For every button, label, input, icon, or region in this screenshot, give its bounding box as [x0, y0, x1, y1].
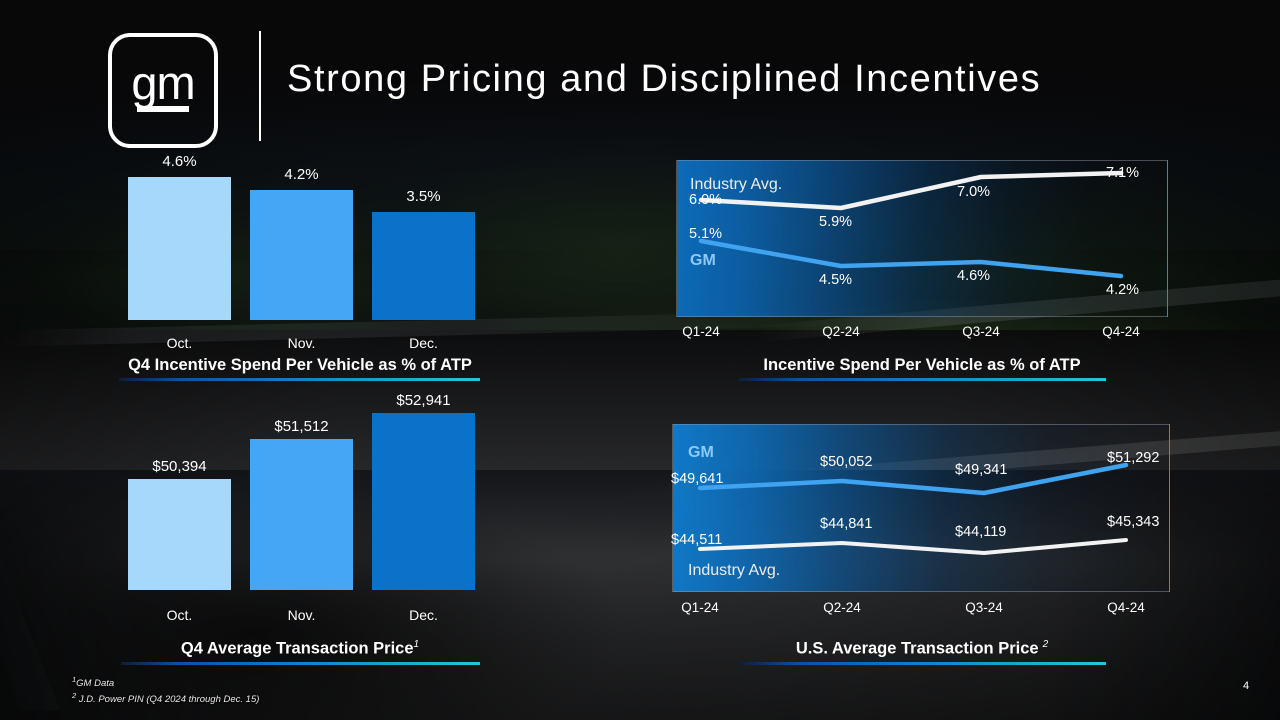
- chart-title-us-atp: U.S. Average Transaction Price2: [740, 639, 1104, 659]
- bar-oct: [128, 479, 231, 590]
- point-label-industry-q1: 6.0%: [689, 192, 722, 208]
- point-label-industry-q4: $45,343: [1107, 514, 1159, 530]
- gm-logo: gm: [108, 33, 218, 148]
- chart-q4-incentive-spend-bar: 4.6% 4.2% 3.5% Oct. Nov. Dec.: [100, 155, 530, 385]
- footnote-1-text: GM Data: [76, 678, 114, 689]
- series-line-gm: [701, 241, 1121, 276]
- point-label-gm-q4: 4.2%: [1106, 282, 1139, 298]
- bar-category-oct: Oct.: [128, 335, 231, 351]
- point-label-industry-q3: $44,119: [955, 524, 1006, 540]
- chart-title-superscript: 2: [1043, 639, 1049, 650]
- axis-label-q3: Q3-24: [944, 600, 1024, 615]
- bar-nov: [250, 439, 353, 590]
- bar-dec: [372, 212, 475, 320]
- axis-label-q4: Q4-24: [1081, 324, 1161, 339]
- point-label-gm-q3: $49,341: [955, 462, 1007, 478]
- chart-title-text: U.S. Average Transaction Price: [796, 640, 1039, 658]
- page-title: Strong Pricing and Disciplined Incentive…: [287, 58, 1041, 101]
- series-line-gm: [700, 465, 1126, 493]
- footnote-1: 1GM Data: [72, 675, 114, 689]
- axis-label-q1: Q1-24: [660, 600, 740, 615]
- footnote-2: 2 J.D. Power PIN (Q4 2024 through Dec. 1…: [72, 691, 259, 705]
- point-label-industry-q2: 5.9%: [819, 214, 852, 230]
- bar-category-nov: Nov.: [250, 335, 353, 351]
- title-rule-q4-atp: [121, 662, 480, 665]
- chart-us-atp-line: GM Industry Avg. $49,641 $50,052 $49,341…: [672, 424, 1172, 619]
- bar-category-dec: Dec.: [372, 607, 475, 623]
- chart-title-incentive-spend: Incentive Spend Per Vehicle as % of ATP: [740, 356, 1104, 375]
- series-label-gm: GM: [690, 252, 716, 270]
- bar-value-nov: 4.2%: [250, 166, 353, 183]
- footnote-2-text: J.D. Power PIN (Q4 2024 through Dec. 15): [76, 694, 259, 705]
- axis-label-q3: Q3-24: [941, 324, 1021, 339]
- title-rule-incentive-spend: [738, 378, 1106, 381]
- chart-title-q4-atp: Q4 Average Transaction Price1: [100, 639, 500, 659]
- point-label-gm-q4: $51,292: [1107, 450, 1159, 466]
- chart-incentive-spend-line: Industry Avg. GM 6.0% 5.9% 7.0% 7.1% 5.1…: [676, 160, 1168, 340]
- title-rule-q4-incentive-spend: [119, 378, 480, 381]
- point-label-industry-q3: 7.0%: [957, 184, 990, 200]
- point-label-industry-q4: 7.1%: [1106, 165, 1139, 181]
- header-divider: [259, 31, 261, 141]
- point-label-gm-q3: 4.6%: [957, 268, 990, 284]
- series-label-industry-avg: Industry Avg.: [688, 562, 780, 580]
- bar-category-oct: Oct.: [128, 607, 231, 623]
- point-label-industry-q2: $44,841: [820, 516, 872, 532]
- chart-title-q4-incentive-spend: Q4 Incentive Spend Per Vehicle as % of A…: [100, 356, 500, 375]
- bar-oct: [128, 177, 231, 320]
- title-rule-us-atp: [738, 662, 1106, 665]
- point-label-gm-q2: 4.5%: [819, 272, 852, 288]
- axis-label-q1: Q1-24: [661, 324, 741, 339]
- bar-value-dec: $52,941: [362, 392, 485, 409]
- bar-category-dec: Dec.: [372, 335, 475, 351]
- bar-value-oct: $50,394: [118, 458, 241, 475]
- page-number: 4: [1243, 680, 1249, 692]
- point-label-industry-q1: $44,511: [671, 532, 722, 548]
- axis-label-q4: Q4-24: [1086, 600, 1166, 615]
- chart-q4-atp-bar: $50,394 $51,512 $52,941 Oct. Nov. Dec.: [100, 408, 530, 623]
- chart-title-text: Q4 Average Transaction Price: [181, 640, 414, 658]
- gm-logo-inner: gm: [131, 65, 194, 113]
- point-label-gm-q2: $50,052: [820, 454, 872, 470]
- gm-logo-underline: [137, 106, 189, 112]
- gm-logo-text: gm: [131, 65, 194, 102]
- series-label-gm: GM: [688, 444, 714, 462]
- chart-title-text: Incentive Spend Per Vehicle as % of ATP: [763, 356, 1080, 374]
- bar-nov: [250, 190, 353, 320]
- chart-title-superscript: 1: [414, 639, 420, 650]
- series-line-industry-avg: [700, 540, 1126, 553]
- point-label-gm-q1: 5.1%: [689, 226, 722, 242]
- bar-category-nov: Nov.: [250, 607, 353, 623]
- chart-title-text: Q4 Incentive Spend Per Vehicle as % of A…: [128, 356, 472, 374]
- point-label-gm-q1: $49,641: [671, 471, 723, 487]
- bar-value-oct: 4.6%: [128, 153, 231, 170]
- bar-plot-area: $50,394 $51,512 $52,941: [100, 408, 530, 590]
- axis-label-q2: Q2-24: [801, 324, 881, 339]
- slide: gm Strong Pricing and Disciplined Incent…: [0, 0, 1280, 720]
- bar-value-nov: $51,512: [240, 418, 363, 435]
- axis-label-q2: Q2-24: [802, 600, 882, 615]
- bar-dec: [372, 413, 475, 590]
- bar-value-dec: 3.5%: [372, 188, 475, 205]
- bar-plot-area: 4.6% 4.2% 3.5%: [100, 155, 530, 320]
